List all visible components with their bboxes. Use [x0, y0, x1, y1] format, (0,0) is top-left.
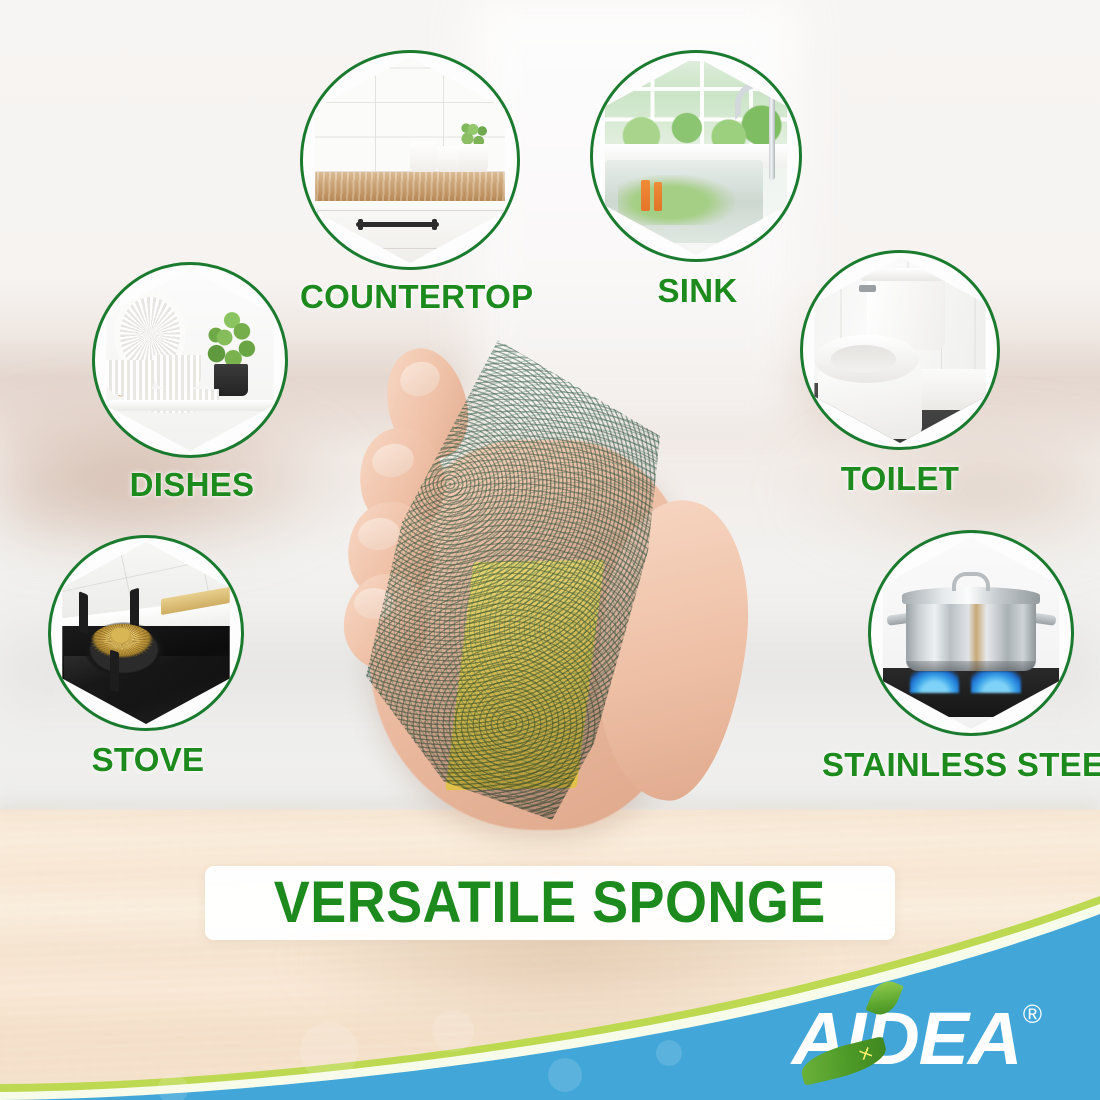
feature-stainless-steel-circle: [868, 530, 1074, 736]
feature-stainless-steel[interactable]: STAINLESS STEEL: [868, 530, 1078, 790]
dishes-photo: [99, 269, 281, 451]
feature-toilet-circle: [800, 250, 1000, 450]
banner-bokeh-dot: [432, 1010, 474, 1052]
product-image-stage: COUNTERTOP SINK: [0, 0, 1100, 1100]
banner-bokeh-dot: [656, 1040, 682, 1066]
feature-toilet[interactable]: TOILET: [800, 250, 1000, 500]
stainless-steel-photo: [875, 537, 1067, 729]
gas-flame-icon: [910, 671, 960, 692]
cooking-pot-icon: [906, 595, 1037, 672]
banner-bokeh-dot: [300, 1022, 358, 1080]
feature-dishes[interactable]: DISHES: [92, 262, 292, 512]
feature-toilet-label: TOILET: [800, 460, 1000, 498]
feature-countertop-label: COUNTERTOP: [300, 278, 530, 316]
brand-banner: AIDEA ®: [0, 870, 1100, 1100]
brand-logo-text: AIDEA: [791, 1004, 1021, 1074]
banner-bokeh-dot: [158, 1074, 188, 1100]
flush-lever-icon: [859, 285, 876, 292]
feature-stove[interactable]: STOVE: [48, 535, 248, 785]
countertop-photo: [307, 57, 513, 263]
brand-logo[interactable]: AIDEA ®: [794, 999, 1042, 1074]
feature-dishes-circle: [92, 262, 288, 458]
toilet-photo: [807, 257, 993, 443]
feature-countertop[interactable]: COUNTERTOP: [300, 50, 530, 320]
feature-countertop-circle: [300, 50, 520, 270]
feature-dishes-label: DISHES: [92, 466, 292, 504]
banner-bokeh-dot: [548, 1058, 582, 1092]
leaf-icon: [797, 1036, 890, 1086]
registered-trademark-icon: ®: [1023, 999, 1042, 1030]
feature-sink-label: SINK: [590, 272, 805, 310]
faucet-icon: [769, 85, 775, 180]
product-hand-holding-sponge: [300, 330, 820, 850]
sink-photo: [597, 57, 795, 255]
feature-stainless-steel-label: STAINLESS STEEL: [822, 746, 1100, 784]
feature-stove-label: STOVE: [48, 741, 248, 779]
gas-flame-icon: [971, 671, 1021, 692]
cabinet-handle-icon: [356, 222, 438, 227]
stove-photo: [55, 542, 237, 724]
feature-sink[interactable]: SINK: [590, 50, 805, 320]
feature-sink-circle: [590, 50, 802, 262]
feature-stove-circle: [48, 535, 244, 731]
